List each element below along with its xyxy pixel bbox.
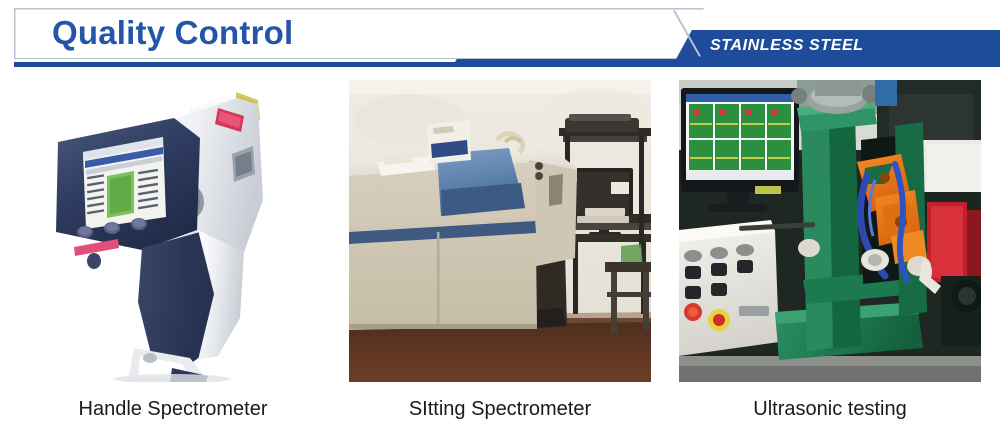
- gallery-item-caption: Ultrasonic testing: [679, 396, 981, 422]
- gallery-item[interactable]: Handle Spectrometer: [22, 80, 324, 422]
- gallery-item-caption: Handle Spectrometer: [22, 396, 324, 422]
- product-gallery: Handle Spectrometer: [0, 80, 1000, 435]
- gallery-item[interactable]: Ultrasonic testing: [679, 80, 981, 422]
- header-tagline: STAINLESS STEEL: [710, 35, 864, 57]
- header-bottom-rule: [14, 62, 1000, 67]
- page-header: Quality Control STAINLESS STEEL: [0, 0, 1000, 72]
- floor-standing-spectrometer-photo: [349, 80, 651, 382]
- handheld-xrf-spectrometer-photo: [22, 80, 322, 382]
- page-title: Quality Control: [52, 12, 293, 54]
- gallery-item[interactable]: SItting Spectrometer: [349, 80, 651, 422]
- ultrasonic-testing-machine-photo: [679, 80, 981, 382]
- gallery-item-caption: SItting Spectrometer: [349, 396, 651, 422]
